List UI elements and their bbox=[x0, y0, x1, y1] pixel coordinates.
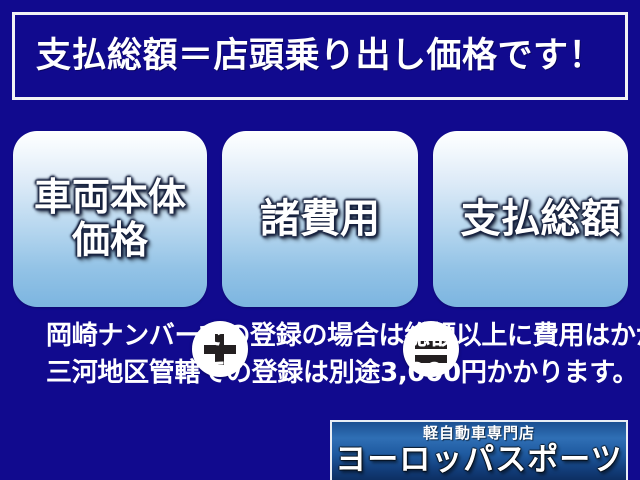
shop-logo-subtitle: 軽自動車専門店 bbox=[423, 425, 535, 442]
notes-block: 岡崎ナンバーでの登録の場合は総額以上に費用はかかりません。 三河地区管轄での登録… bbox=[0, 318, 640, 392]
note-line-1: 岡崎ナンバーでの登録の場合は総額以上に費用はかかりません。 bbox=[0, 318, 640, 355]
promo-poster: 支払総額＝店頭乗り出し価格です！ 車両本体 価格 諸費用 支払総額 bbox=[0, 0, 640, 480]
price-formula: 車両本体 価格 諸費用 支払総額 bbox=[0, 131, 640, 307]
formula-box-vehicle-price-line2: 価格 bbox=[72, 218, 148, 262]
formula-box-vehicle-price: 車両本体 価格 bbox=[13, 131, 207, 307]
formula-box-total-payment: 支払総額 bbox=[433, 131, 628, 307]
headline-banner: 支払総額＝店頭乗り出し価格です！ bbox=[12, 12, 628, 100]
formula-box-fees: 諸費用 bbox=[222, 131, 418, 307]
shop-logo-plate: 軽自動車専門店 ヨーロッパスポーツ bbox=[330, 420, 628, 480]
shop-logo-name: ヨーロッパスポーツ bbox=[335, 443, 622, 479]
formula-box-fees-label: 諸費用 bbox=[260, 197, 380, 242]
headline-text: 支払総額＝店頭乗り出し価格です！ bbox=[36, 39, 604, 74]
formula-box-vehicle-price-line1: 車両本体 bbox=[34, 175, 186, 219]
formula-box-vehicle-price-label: 車両本体 価格 bbox=[34, 176, 186, 261]
note-line-2: 三河地区管轄での登録は別途3,000円かかります。 bbox=[0, 355, 640, 392]
formula-box-total-payment-label: 支払総額 bbox=[461, 197, 621, 242]
